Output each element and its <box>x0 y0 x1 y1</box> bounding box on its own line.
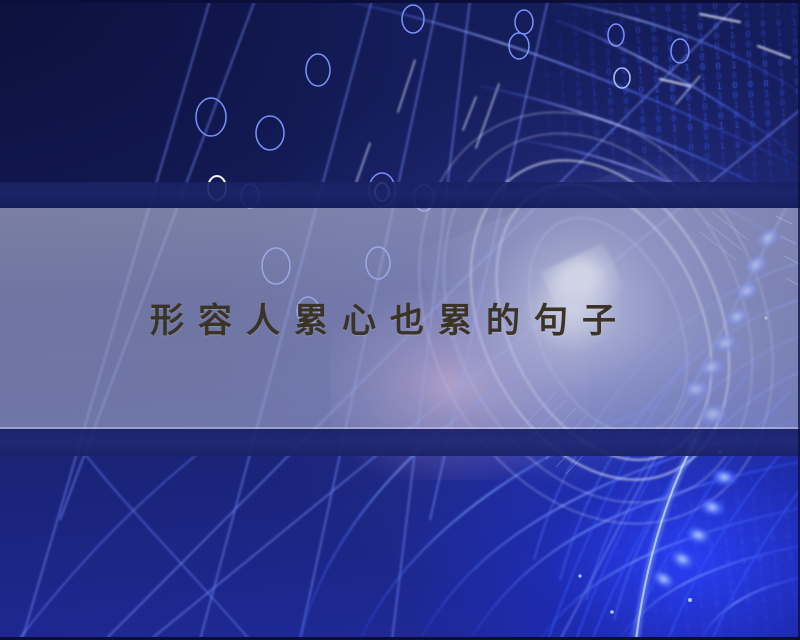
banner-bottom-dark-strip <box>0 429 800 456</box>
top-border-line <box>0 0 800 3</box>
converging-line <box>20 450 250 640</box>
page-title: 形容人累心也累的句子 <box>150 293 630 342</box>
arc-node-circle <box>614 68 630 88</box>
banner-top-dark-strip <box>0 182 800 208</box>
banner-title-container: 形容人累心也累的句子 <box>0 208 800 427</box>
banner-image: 0 1 0 0 0 1 1 0 0 0 1 0 0 1 1 0 0 11 0 0… <box>0 0 800 640</box>
